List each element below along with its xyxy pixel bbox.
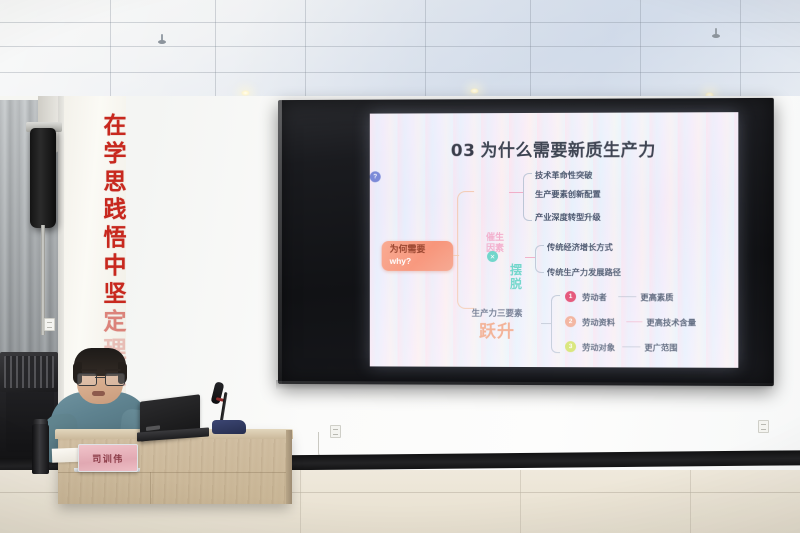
mind-map: 为何需要 why? ? 催生 因素 技术革命性突破 生产要素创新配置 xyxy=(370,171,739,368)
mindmap-center-node: 为何需要 why? xyxy=(382,241,453,271)
slide-content: 03为什么需要新质生产力 为何需要 why? ? 催生 因素 xyxy=(370,112,739,368)
branch-3-bracket xyxy=(551,295,560,353)
calligraphy-char: 学 xyxy=(104,140,127,168)
branch-2-label-line1: 摆 xyxy=(510,263,522,277)
branch-3-item-name: 劳动资料 xyxy=(582,316,615,328)
branch-3-connector xyxy=(541,323,551,324)
branch-2-label-line2: 脱 xyxy=(510,277,522,291)
branch-3-item-link xyxy=(618,296,636,297)
slide-number: 03 xyxy=(451,141,476,161)
branch-3-item-name: 劳动者 xyxy=(582,291,607,303)
presentation-display[interactable]: 03为什么需要新质生产力 为何需要 why? ? 催生 因素 xyxy=(278,98,774,386)
branch-3-item-value: 更高技术含量 xyxy=(646,316,696,328)
display-bezel-highlight xyxy=(278,100,282,384)
branch-1-label-line1: 催生 xyxy=(486,233,504,243)
branch-1-leaf: 产业深度转型升级 xyxy=(535,211,601,223)
thermos-bottle[interactable] xyxy=(32,424,49,474)
branch-3-item-num: 1 xyxy=(569,293,573,300)
microphone-base[interactable] xyxy=(212,420,246,434)
branch-1-badge-label: ? xyxy=(373,173,377,180)
desk-right-edge xyxy=(286,430,292,504)
nameplate-text: 司训伟 xyxy=(92,452,124,465)
presenter-mouth xyxy=(92,391,105,396)
branch-3-item-num: 2 xyxy=(569,318,573,325)
calligraphy-char: 坚 xyxy=(104,280,127,308)
branch-2-badge-label: ✕ xyxy=(490,252,495,260)
calligraphy-char: 中 xyxy=(104,252,127,280)
branch-2-leaf: 传统经济增长方式 xyxy=(547,241,613,253)
branch-3-item-name: 劳动对象 xyxy=(582,341,615,353)
branch-3-item-value: 更广范围 xyxy=(644,341,677,353)
branch-1-badge: ? xyxy=(370,171,381,182)
branch-1-leaf: 技术革命性突破 xyxy=(535,169,592,181)
glasses-icon xyxy=(77,373,123,384)
branch-3-item-link xyxy=(626,321,642,322)
ceiling-downlight xyxy=(470,88,479,94)
calligraphy-char: 思 xyxy=(104,168,127,196)
calligraphy-char: 在 xyxy=(104,112,127,140)
branch-2-badge: ✕ xyxy=(487,251,498,262)
branch-1-connector xyxy=(509,192,523,193)
branch-2-leaf: 传统生产力发展路径 xyxy=(547,266,621,278)
calligraphy-char: 践 xyxy=(104,196,127,224)
calligraphy-char: 定 xyxy=(104,308,127,336)
branch-3-item-badge: 1 xyxy=(565,291,576,302)
slide-title: 03为什么需要新质生产力 xyxy=(370,135,739,161)
branch-3-label-big: 跃升 xyxy=(467,317,527,342)
sprinkler-head xyxy=(158,34,166,45)
wall-speaker xyxy=(30,128,56,228)
presenter-nameplate: 司训伟 xyxy=(78,444,138,472)
branch-2-connector xyxy=(525,257,535,258)
lecture-room-scene: 在 学 思 践 悟 中 坚 定 理 想 03为什么需要新质生产力 为何需要 wh… xyxy=(0,0,800,533)
branch-3-item-badge: 3 xyxy=(565,341,576,352)
presenter-brow-right xyxy=(105,369,121,371)
mindmap-center-stub xyxy=(453,255,459,257)
branch-3-item-value: 更高素质 xyxy=(640,291,673,303)
slide-title-text: 为什么需要新质生产力 xyxy=(480,141,655,162)
branch-3-item-badge: 2 xyxy=(565,316,576,327)
branch-1-bracket xyxy=(523,173,532,221)
center-node-line1: 为何需要 xyxy=(390,245,454,256)
branch-2-bracket xyxy=(535,245,544,273)
calligraphy-char: 悟 xyxy=(104,224,127,252)
presenter-brow-left xyxy=(81,369,97,371)
branch-2-label: 摆 脱 xyxy=(507,264,525,292)
sprinkler-head xyxy=(712,28,720,39)
branch-3-item-num: 3 xyxy=(569,343,573,350)
wall-outlet[interactable] xyxy=(44,318,55,331)
mindmap-spine xyxy=(457,191,474,309)
wall-outlet[interactable] xyxy=(758,420,769,433)
center-node-line2: why? xyxy=(390,256,454,267)
branch-1-leaf: 生产要素创新配置 xyxy=(535,188,601,200)
branch-3-item-link xyxy=(622,346,640,347)
